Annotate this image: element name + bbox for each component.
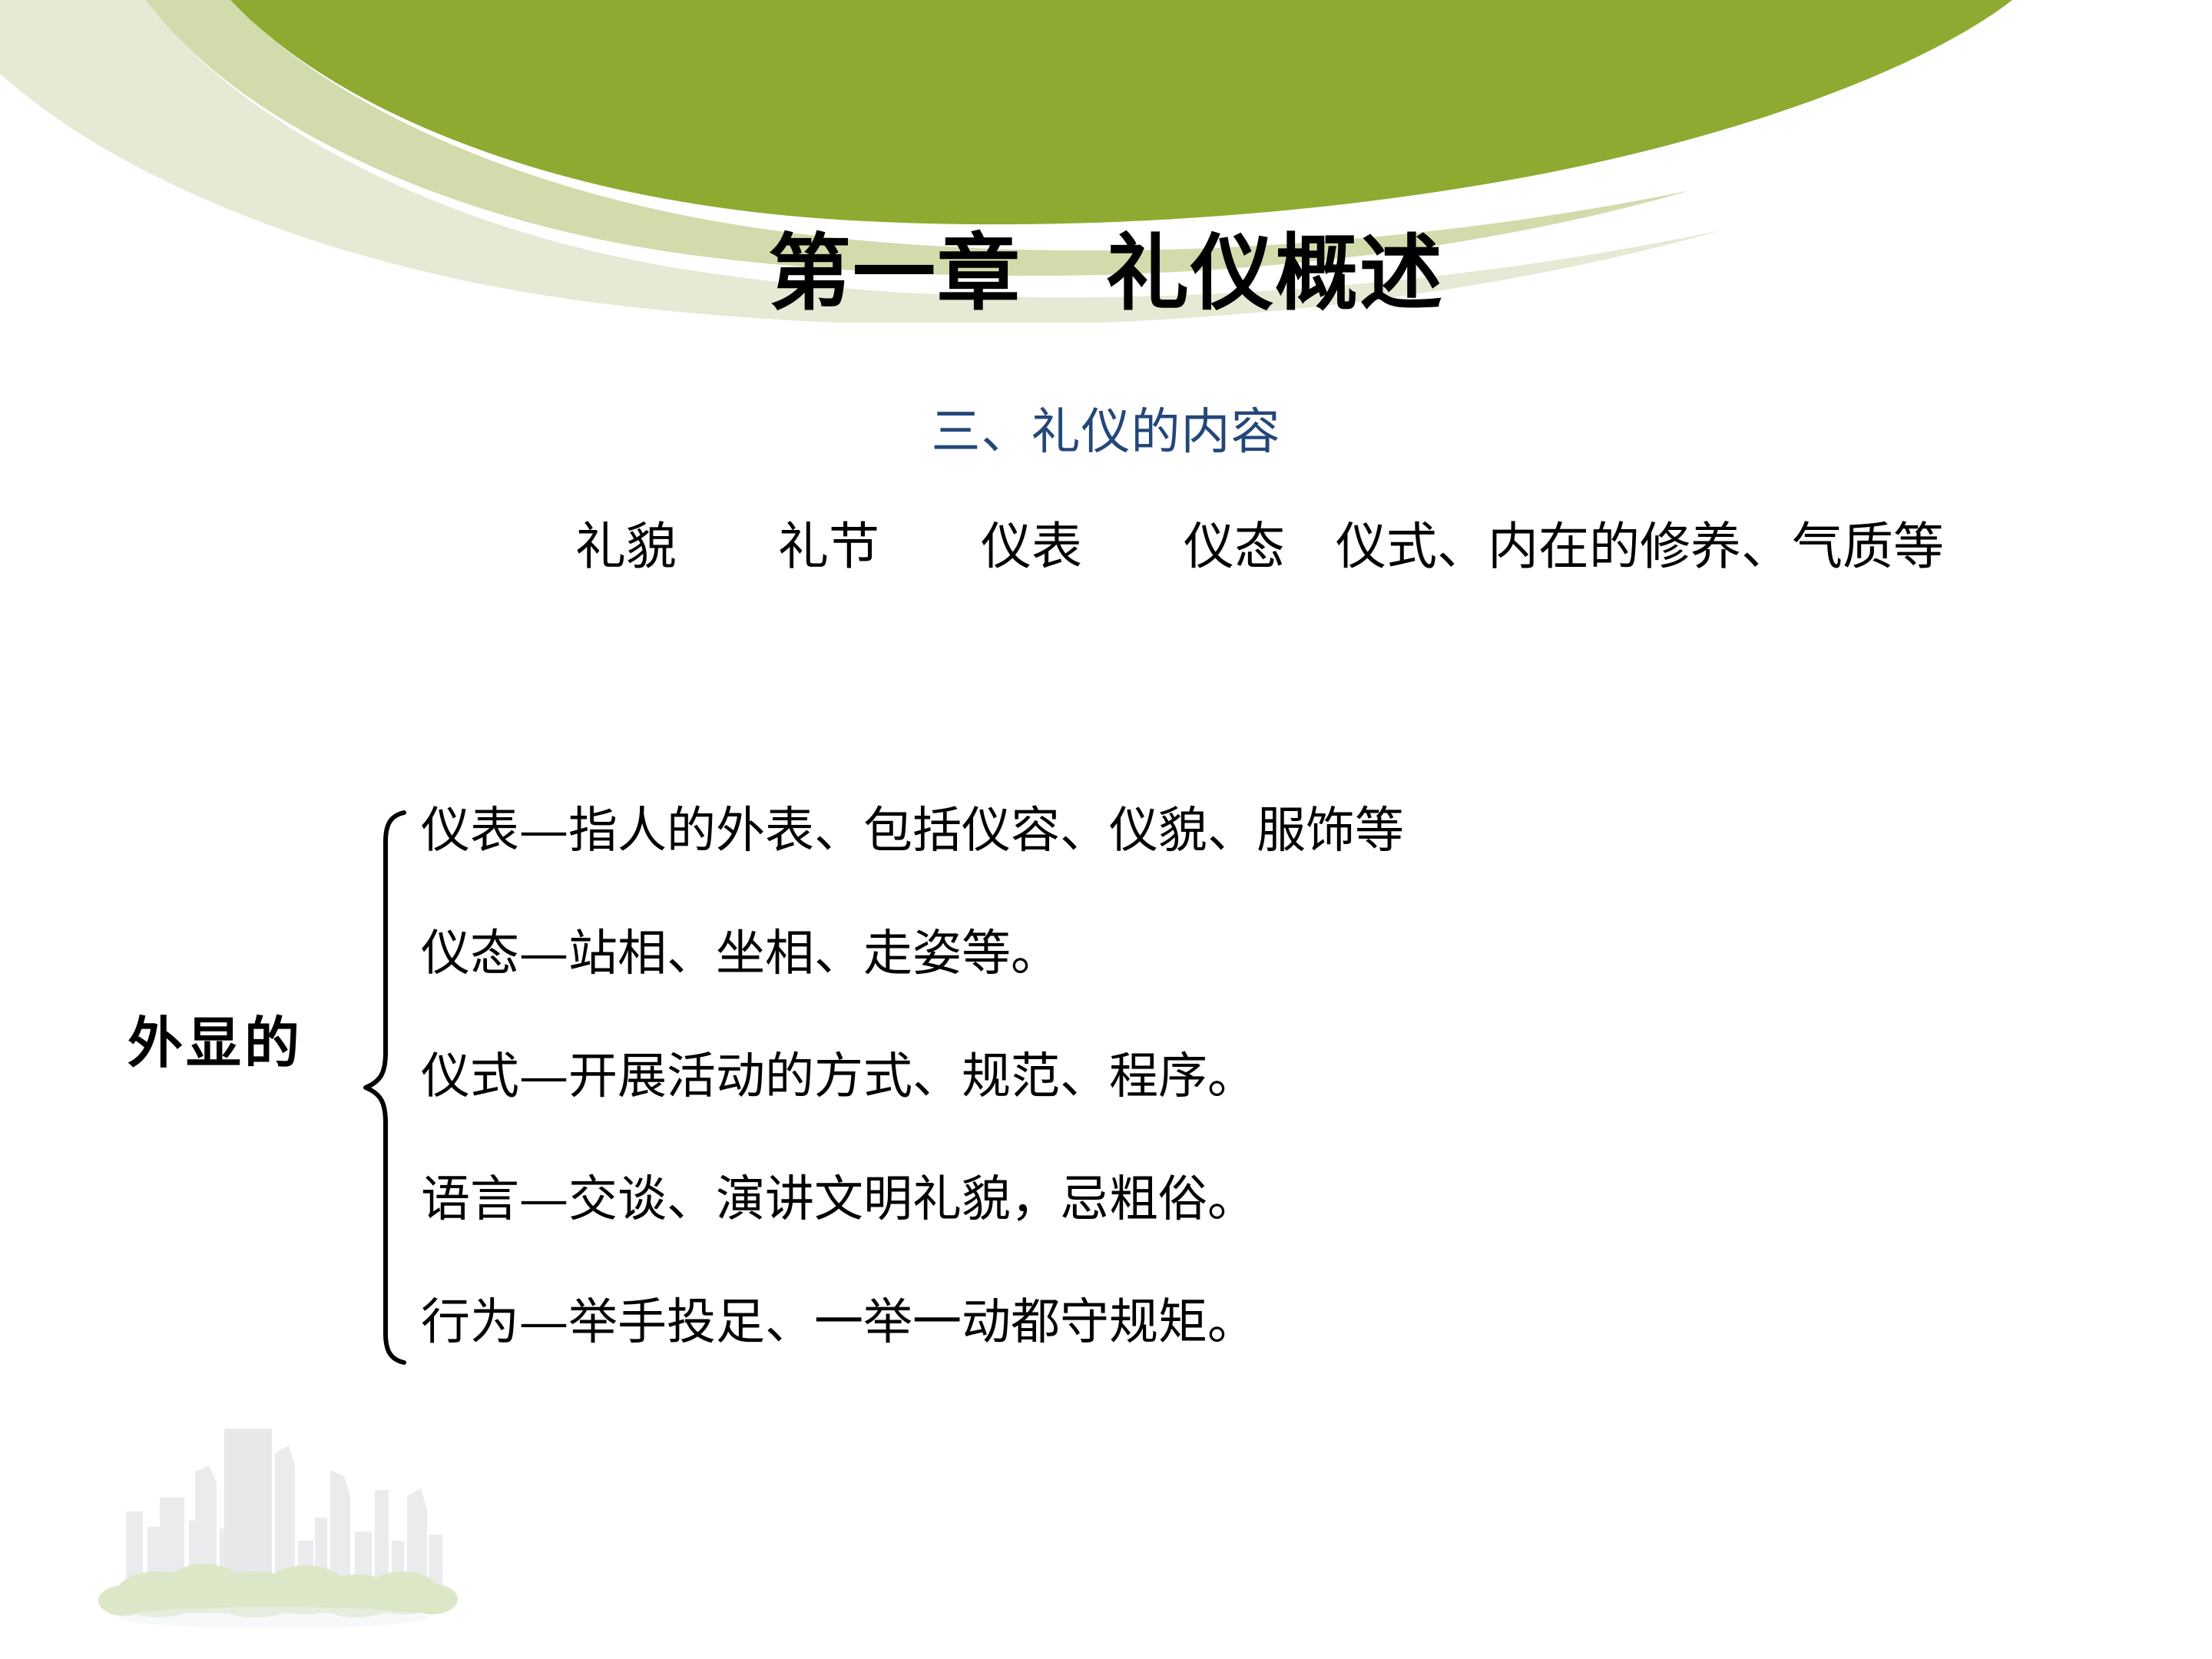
list-item: 仪式—开展活动的方式、规范、程序。 xyxy=(421,1045,2172,1109)
city-skyline-icon xyxy=(74,1406,473,1636)
list-item: 行为—举手投足、一举一动都守规矩。 xyxy=(421,1290,2172,1355)
left-curly-brace-icon xyxy=(361,808,410,1367)
slide-canvas: 第一章 礼仪概述 三、礼仪的内容 礼貌 礼节 仪表 仪态 仪式、内在的修养、气质… xyxy=(0,0,2212,1659)
page-title: 第一章 礼仪概述 xyxy=(0,230,2212,317)
intro-paragraph: 礼貌 礼节 仪表 仪态 仪式、内在的修养、气质等 xyxy=(338,515,2181,579)
section-subtitle: 三、礼仪的内容 xyxy=(0,406,2212,459)
list-item: 仪表—指人的外表、包括仪容、仪貌、服饰等 xyxy=(421,799,2172,863)
section-subtitle-block: 三、礼仪的内容 xyxy=(0,406,2212,459)
list-item: 语言—交谈、演讲文明礼貌，忌粗俗。 xyxy=(421,1167,2172,1232)
page-title-block: 第一章 礼仪概述 xyxy=(0,230,2212,317)
grouped-list: 外显的 仪表—指人的外表、包括仪容、仪貌、服饰等 仪态—站相、坐相、走姿等。 仪… xyxy=(0,799,2212,1382)
group-label: 外显的 xyxy=(77,1015,353,1071)
list-item: 仪态—站相、坐相、走姿等。 xyxy=(421,922,2172,986)
group-item-list: 仪表—指人的外表、包括仪容、仪貌、服饰等 仪态—站相、坐相、走姿等。 仪式—开展… xyxy=(421,799,2172,1355)
intro-paragraph-block: 礼貌 礼节 仪表 仪态 仪式、内在的修养、气质等 xyxy=(338,515,2181,579)
